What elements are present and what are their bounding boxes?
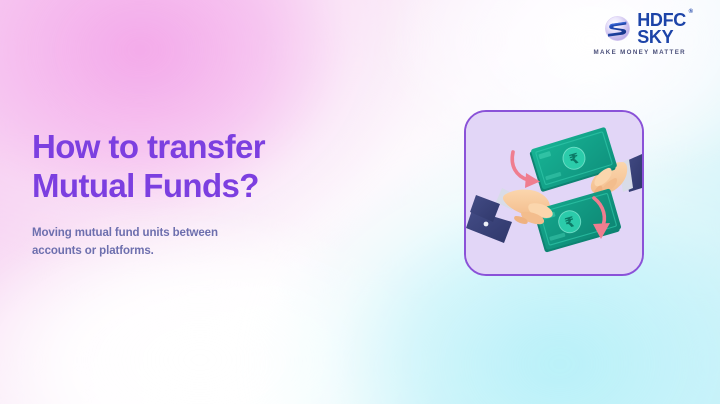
brand-logo-row: HDFC SKY ® [546,12,686,45]
cuff-button-icon [484,222,489,227]
brand-tagline: MAKE MONEY MATTER [546,49,686,56]
brand-name-line2: SKY [637,29,673,46]
copy-block: How to transfer Mutual Funds? Moving mut… [32,128,392,261]
page-subtitle: Moving mutual fund units between account… [32,225,392,261]
registered-trademark-icon: ® [689,10,693,16]
slide-canvas: HDFC SKY ® MAKE MONEY MATTER How to tran… [0,0,720,404]
illustration-card: ₹ [464,110,644,276]
brand-wordmark: HDFC SKY ® [637,12,686,45]
page-title: How to transfer Mutual Funds? [32,128,392,205]
hdfc-sky-swoosh-icon [604,15,631,42]
hands-exchanging-money-illustration: ₹ [466,112,642,274]
brand-logo: HDFC SKY ® MAKE MONEY MATTER [546,12,686,56]
